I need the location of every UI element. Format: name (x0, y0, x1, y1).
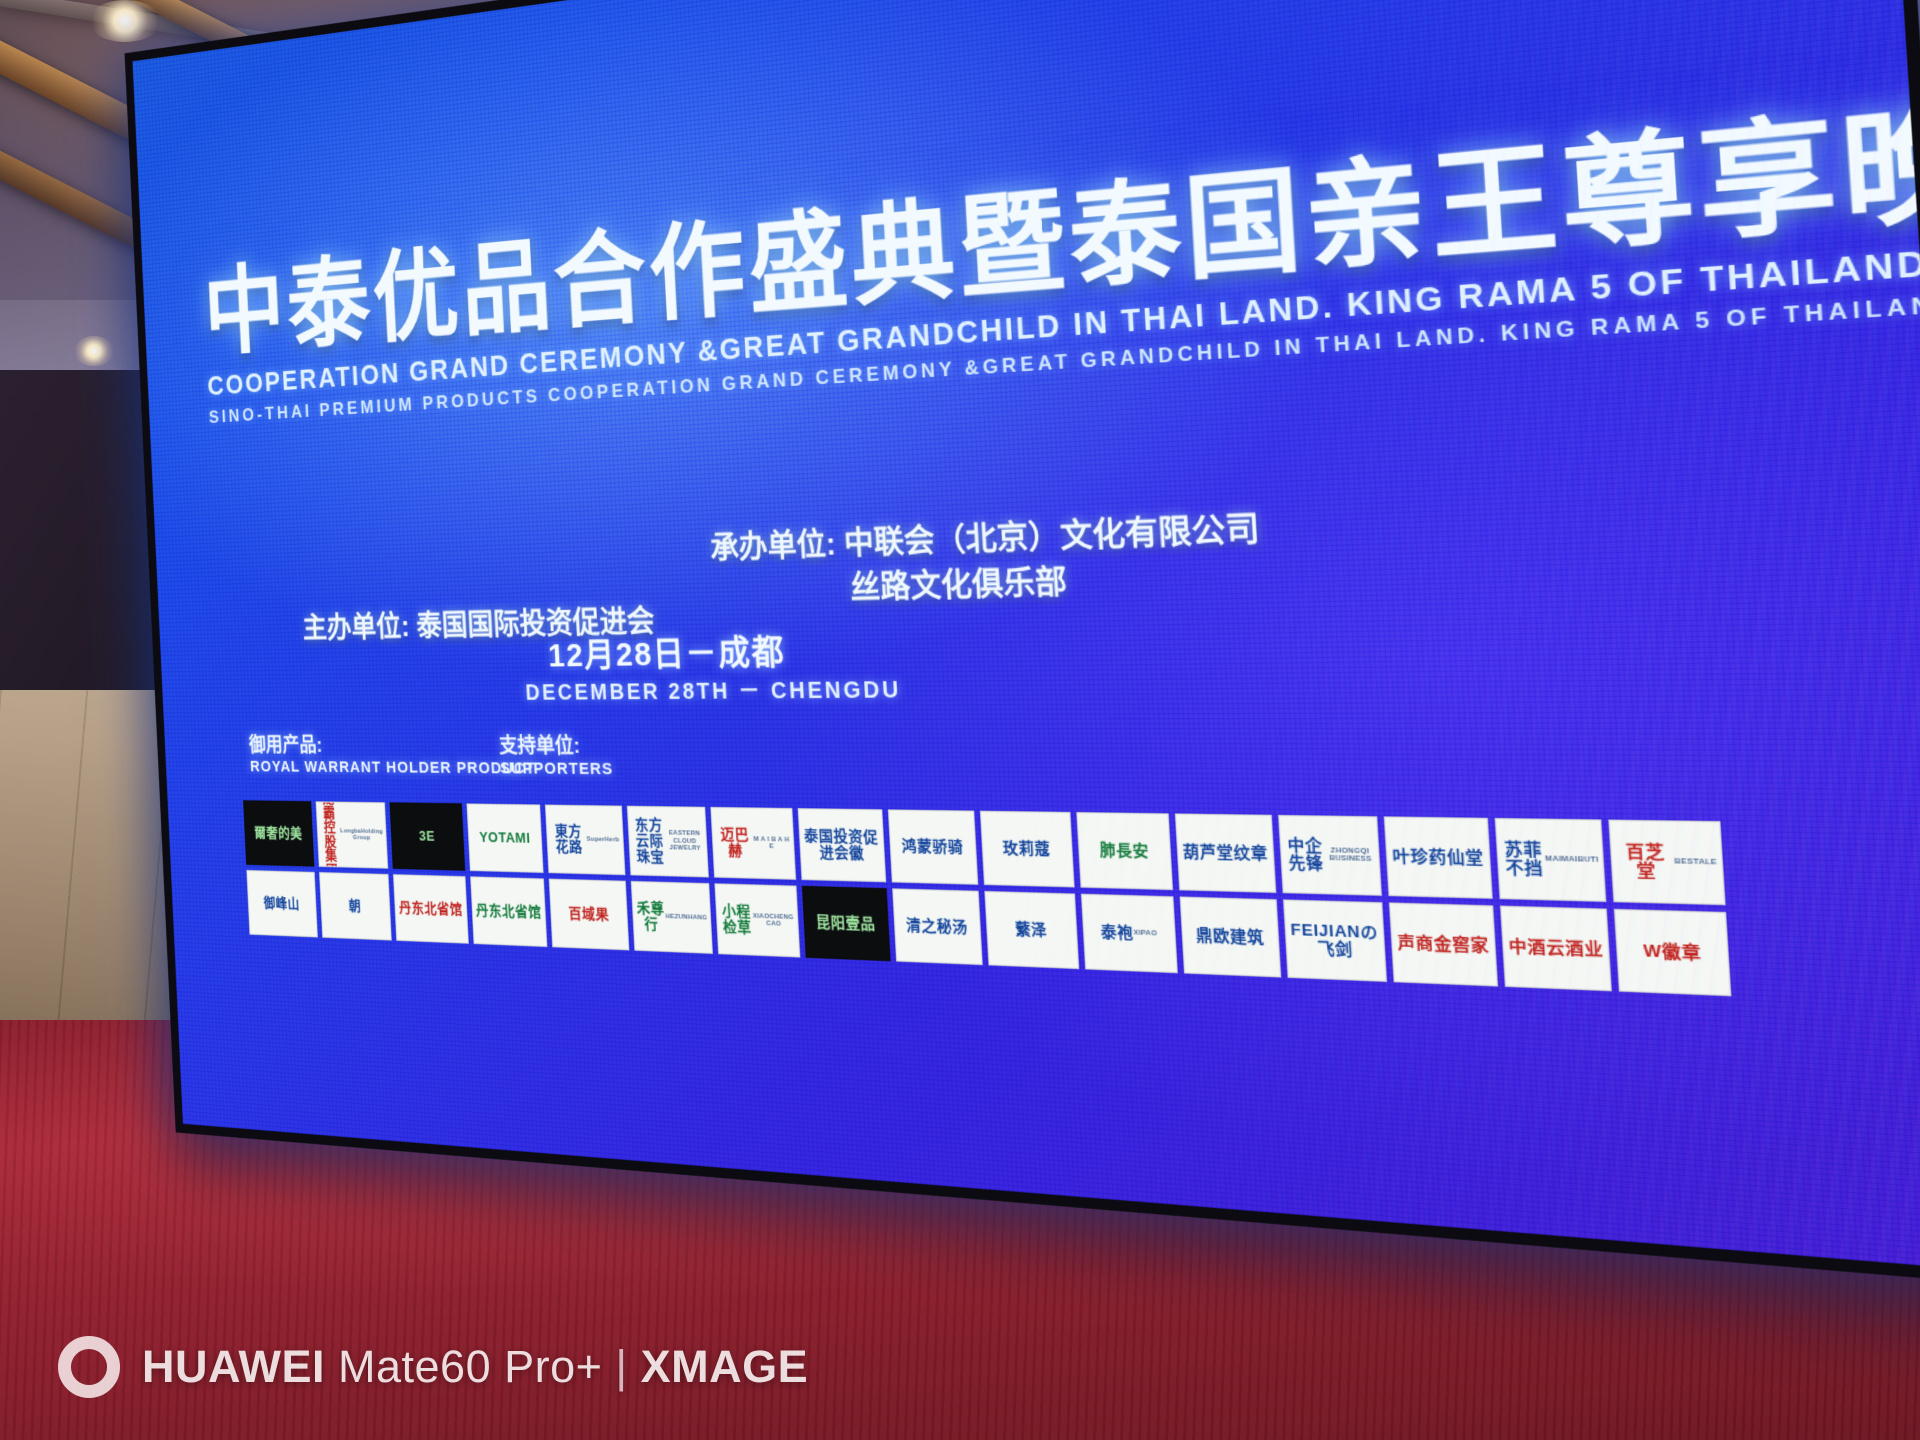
sponsor-logo: 葫芦堂纹章 (1175, 813, 1276, 893)
sponsor-logo-latin: MAIMAIBUTI (1545, 855, 1599, 864)
sponsor-logo: 泰袍XIPAO (1080, 893, 1178, 973)
sponsor-logo-name: 泰袍 (1100, 924, 1134, 942)
sponsor-logo-name: 迈巴赫 (716, 827, 754, 859)
sponsor-logo: 鼎欧建筑 (1180, 896, 1281, 977)
sponsor-logo-name: 叶珍药仙堂 (1392, 847, 1484, 867)
sponsor-logo-name: 丹东北省馆 (399, 900, 463, 917)
sponsor-logo: FEIJIANの飞剑 (1283, 899, 1388, 982)
event-date-en: DECEMBER 28TH － CHENGDU (525, 670, 902, 706)
sponsor-logo: 昆阳壹品 (802, 886, 890, 961)
sponsor-logo: 中企先锋ZHONGQI BUSINESS (1278, 815, 1383, 896)
sponsor-logo-name: 禾尊行 (636, 900, 667, 932)
led-screen-wrapper: 中泰优品合作盛典暨泰国亲王尊享晚宴 COOPERATION GRAND CERE… (150, 60, 1710, 1180)
huawei-camera-watermark: HUAWEI Mate60 Pro+ | XMAGE (58, 1336, 808, 1398)
organizer-credit: 承办单位: 中联会（北京）文化有限公司 丝路文化俱乐部 (709, 505, 1264, 613)
sponsor-logo-name: 百域果 (568, 906, 609, 923)
event-date-cn: 12月28日－成都 (547, 623, 787, 676)
sponsor-logo-latin: XIAOCHENG CAO (753, 913, 795, 929)
sponsor-logo: 龙霸控股集团LongbaHolding Group (315, 801, 388, 868)
sponsor-logo: 爾奢的美 (243, 800, 314, 866)
sponsor-logo: 丹东北省馆 (470, 876, 548, 947)
sponsor-logo-name: 蘩泽 (1015, 921, 1048, 939)
sponsor-logo-name: 東方花路 (550, 824, 587, 855)
sponsor-logo-name: 肺長安 (1099, 842, 1149, 860)
sponsor-logo-name: 3E (419, 829, 436, 844)
sponsor-logo: 蘩泽 (984, 891, 1078, 969)
sponsor-logo-name: 清之秘汤 (906, 917, 968, 935)
sponsor-logo: YOTAMI (466, 803, 544, 873)
sponsor-logo-name: 御峰山 (263, 896, 300, 912)
royal-warrant-label: 御用产品: ROYAL WARRANT HOLDER PRODUCT (249, 734, 537, 780)
sponsor-logo-name: 声商金窖家 (1397, 934, 1490, 955)
supporters-label-en: SUPPORTERS (500, 759, 614, 780)
sponsor-logo-name: 小程检草 (720, 903, 754, 935)
sponsor-logo: 百域果 (549, 878, 629, 950)
sponsor-logo-name: 泰国投资促进会徽 (803, 828, 880, 861)
credits-block: 承办单位: 中联会（北京）文化有限公司 丝路文化俱乐部 主办单位: 泰国国际投资… (214, 459, 1846, 803)
sponsor-logo: 丹东北省馆 (393, 874, 468, 944)
sponsor-logo: 3E (390, 802, 465, 870)
sponsor-logo-latin: ZHONGQI BUSINESS (1325, 847, 1375, 864)
sponsor-logo-wall: 爾奢的美龙霸控股集团LongbaHolding Group3EYOTAMI東方花… (243, 800, 1732, 1003)
sponsor-logo: 泰国投资促进会徽 (798, 808, 886, 882)
sponsor-logo-name: 朝 (348, 898, 361, 913)
sponsor-logo: W徽章 (1614, 909, 1731, 996)
ceiling-downlight (88, 0, 162, 42)
sponsor-logo: 御峰山 (246, 870, 317, 937)
watermark-brand: HUAWEI (142, 1341, 325, 1393)
sponsor-logo-name: W徽章 (1643, 942, 1702, 962)
sponsor-logo-name: 百芝堂 (1616, 843, 1676, 881)
sponsor-logo: 声商金窖家 (1389, 902, 1498, 986)
sponsor-logo-name: 丹东北省馆 (476, 903, 542, 920)
sponsor-logo: 叶珍药仙堂 (1384, 816, 1492, 898)
huawei-leica-ring-icon (58, 1336, 120, 1398)
royal-warrant-label-en: ROYAL WARRANT HOLDER PRODUCT (250, 758, 536, 780)
sponsor-logo-name: YOTAMI (479, 830, 531, 846)
sponsor-logo: 肺長安 (1076, 812, 1173, 890)
watermark-xmage: XMAGE (641, 1341, 809, 1393)
sponsor-logo: 清之秘汤 (892, 888, 983, 965)
sponsor-logo-name: 鼎欧建筑 (1196, 927, 1265, 946)
sponsor-logo-name: 鸿蒙骄骑 (901, 838, 963, 855)
sponsor-logo: 玫莉蔻 (980, 810, 1074, 887)
sponsor-logo-latin: BESTALE (1674, 858, 1717, 867)
sponsor-logo-latin: XIPAO (1133, 929, 1157, 938)
sponsor-logo: 朝 (319, 872, 392, 940)
screen-content: 中泰优品合作盛典暨泰国亲王尊享晚宴 COOPERATION GRAND CERE… (132, 0, 1920, 1271)
royal-warrant-label-cn: 御用产品: (249, 735, 323, 757)
supporters-label-cn: 支持单位: (499, 735, 581, 758)
led-screen: 中泰优品合作盛典暨泰国亲王尊享晚宴 COOPERATION GRAND CERE… (125, 0, 1920, 1285)
sponsor-logo-latin: SuperHerb (587, 836, 620, 844)
sponsor-logo: 小程检草XIAOCHENG CAO (715, 883, 800, 957)
sponsor-logo: 禾尊行HEZUNHANG (631, 881, 714, 954)
title-block: 中泰优品合作盛典暨泰国亲王尊享晚宴 COOPERATION GRAND CERE… (202, 114, 1816, 428)
sponsor-logo-name: 玫莉蔻 (1003, 840, 1052, 857)
watermark-text: HUAWEI Mate60 Pro+ | XMAGE (142, 1341, 808, 1393)
sponsor-logo: 东方云际珠宝EASTERN CLOUD JEWELRY (627, 806, 710, 878)
sponsor-logo-name: 中企先锋 (1284, 837, 1327, 872)
photo-scene: 中泰优品合作盛典暨泰国亲王尊享晚宴 COOPERATION GRAND CERE… (0, 0, 1920, 1440)
watermark-model: Mate60 Pro+ (338, 1341, 602, 1393)
sponsor-logo: 鸿蒙骄骑 (887, 809, 978, 884)
sponsor-logo-latin: LongbaHolding Group (340, 828, 383, 842)
sponsor-logo-name: 中酒云酒业 (1508, 937, 1604, 958)
sponsor-logo: 苏菲不挡MAIMAIBUTI (1495, 818, 1607, 902)
sponsor-logo-name: 龙霸控股集团 (318, 801, 342, 868)
sponsor-logo-latin: HEZUNHANG (665, 913, 707, 922)
sponsor-logo-latin: M A I B A H E (753, 836, 790, 851)
sponsor-logo-name: 昆阳壹品 (816, 914, 876, 932)
watermark-separator: | (615, 1341, 627, 1393)
sponsor-logo-latin: EASTERN CLOUD JEWELRY (666, 830, 704, 852)
ceiling-downlight (74, 336, 114, 366)
sponsor-logo-name: 爾奢的美 (254, 825, 302, 840)
supporters-label: 支持单位: SUPPORTERS (498, 734, 613, 780)
sponsor-logo-name: 葫芦堂纹章 (1182, 843, 1268, 862)
sponsor-logo-name: 苏菲不挡 (1501, 840, 1546, 877)
sponsor-logo: 百芝堂BESTALE (1609, 819, 1726, 905)
sponsor-logo-name: FEIJIANの飞剑 (1289, 921, 1381, 959)
sponsor-logo: 迈巴赫M A I B A H E (711, 807, 796, 880)
sponsor-logo-name: 东方云际珠宝 (631, 817, 667, 864)
sponsor-logo: 中酒云酒业 (1500, 905, 1613, 991)
sponsor-logo: 東方花路SuperHerb (545, 804, 625, 875)
